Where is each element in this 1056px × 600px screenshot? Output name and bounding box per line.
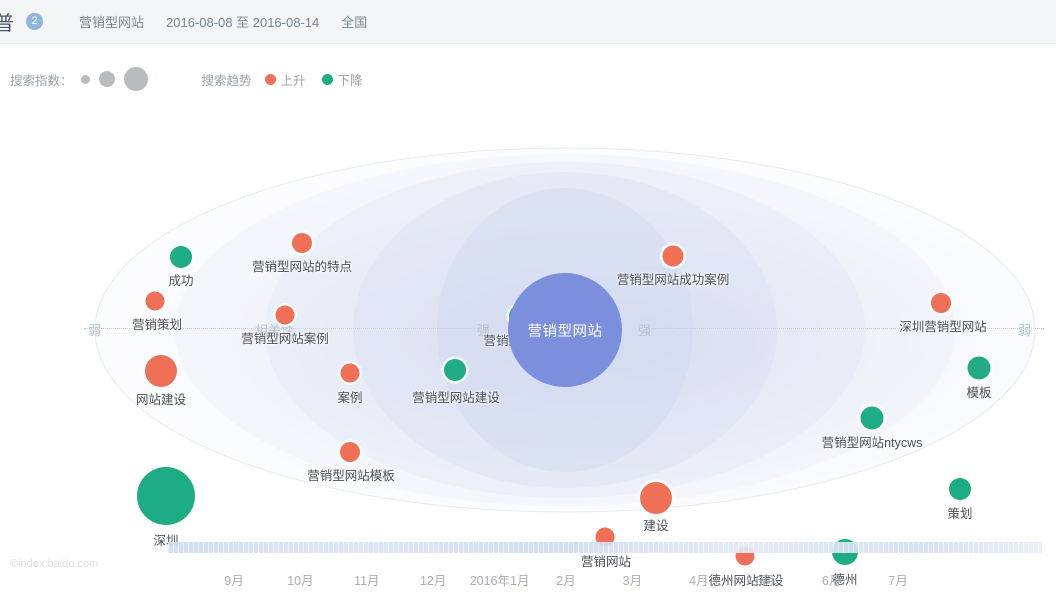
demand-node-bubble[interactable]	[340, 442, 360, 462]
timeline-tick[interactable]: 5月	[755, 570, 774, 589]
axis-label-right-weak: 弱	[1018, 320, 1031, 339]
demand-node-bubble[interactable]	[444, 359, 466, 381]
breadcrumb-date-range[interactable]: 2016-08-08 至 2016-08-14	[166, 12, 319, 31]
trend-down-dot-icon	[322, 74, 333, 85]
demand-node-bubble[interactable]	[861, 407, 884, 430]
legend-size-dot-small	[81, 75, 90, 84]
timeline-tick[interactable]: 2016年1月	[470, 570, 530, 589]
demand-node-bubble[interactable]	[170, 246, 192, 268]
legend-trend-up-label: 上升	[281, 70, 306, 89]
center-keyword-node[interactable]: 营销型网站	[508, 273, 622, 387]
timeline-tick[interactable]: 3月	[623, 570, 642, 589]
legend-search-trend-label: 搜索趋势	[202, 70, 252, 89]
demand-node-bubble[interactable]	[145, 355, 177, 387]
center-keyword-label: 营销型网站	[528, 320, 603, 341]
demand-node-bubble[interactable]	[663, 246, 684, 267]
baidu-index-demand-graph-page: 普 2 营销型网站 2016-08-08 至 2016-08-14 全国 搜索指…	[0, 0, 1056, 600]
page-header: 普 2 营销型网站 2016-08-08 至 2016-08-14 全国	[0, 0, 1056, 44]
notification-badge[interactable]: 2	[26, 13, 43, 30]
demand-node-bubble[interactable]	[968, 357, 991, 380]
timeline-tick[interactable]: 9月	[224, 570, 243, 589]
demand-node-bubble[interactable]	[640, 482, 672, 514]
timeline-tick[interactable]: 10月	[287, 570, 313, 589]
legend-trend-down[interactable]: 下降	[322, 70, 363, 89]
legend-trend-down-label: 下降	[338, 70, 363, 89]
axis-label-right-strong: 强	[638, 320, 651, 339]
demand-node-label[interactable]: 营销型网站成功案例	[617, 269, 730, 288]
timeline-tick[interactable]: 12月	[420, 570, 446, 589]
demand-node-bubble[interactable]	[137, 467, 195, 525]
demand-node-label[interactable]: 营销型网站模板	[307, 465, 395, 484]
timeline-track[interactable]	[168, 542, 1042, 553]
demand-node-label[interactable]: 营销型网站案例	[241, 328, 329, 347]
breadcrumb: 营销型网站 2016-08-08 至 2016-08-14 全国	[79, 12, 367, 31]
axis-label-left-weak: 弱	[88, 320, 101, 339]
trend-up-dot-icon	[265, 74, 276, 85]
demand-node-bubble[interactable]	[931, 293, 951, 313]
legend-search-index-label: 搜索指数：	[10, 70, 73, 89]
demand-node-label[interactable]: 深圳营销型网站	[899, 316, 987, 335]
breadcrumb-keyword[interactable]: 营销型网站	[79, 12, 144, 31]
demand-node-bubble[interactable]	[341, 364, 360, 383]
timeline-tick-labels: 9月10月11月12月2016年1月2月3月4月5月6月7月	[168, 570, 1042, 590]
timeline-tick[interactable]: 2月	[556, 570, 575, 589]
legend-trend-group: 搜索趋势 上升 下降	[202, 70, 372, 89]
demand-node-label[interactable]: 模板	[966, 382, 991, 401]
watermark: ©index.baidu.com	[10, 558, 98, 570]
demand-node-bubble[interactable]	[292, 233, 312, 253]
demand-node-label[interactable]: 成功	[168, 270, 193, 289]
demand-node-label[interactable]: 案例	[337, 387, 362, 406]
legend-trend-up[interactable]: 上升	[265, 70, 306, 89]
legend-size-dot-large	[124, 67, 148, 91]
timeline-scrubber[interactable]: 9月10月11月12月2016年1月2月3月4月5月6月7月	[0, 530, 1056, 600]
demand-node-label[interactable]: 策划	[947, 503, 972, 522]
demand-node-label[interactable]: 网站建设	[136, 389, 186, 408]
breadcrumb-region[interactable]: 全国	[341, 12, 367, 31]
timeline-tick[interactable]: 4月	[689, 570, 708, 589]
demand-node-label[interactable]: 营销策划	[132, 314, 182, 333]
baidu-index-logo[interactable]: 普	[0, 7, 14, 36]
demand-node-bubble[interactable]	[146, 292, 165, 311]
timeline-tick[interactable]: 6月	[822, 570, 841, 589]
demand-node-label[interactable]: 营销型网站ntycws	[822, 432, 923, 451]
demand-graph-canvas[interactable]: 弱 相关性 强 强 弱 成功营销型网站的特点营销策划营销型网站案例营销型网站成功…	[0, 104, 1056, 524]
demand-node-label[interactable]: 营销型网站建设	[412, 387, 500, 406]
timeline-tick[interactable]: 11月	[354, 570, 379, 589]
legend-size-dot-medium	[99, 71, 115, 87]
demand-node-bubble[interactable]	[276, 306, 295, 325]
legend-size-scale	[81, 67, 148, 91]
demand-node-bubble[interactable]	[949, 478, 971, 500]
demand-node-label[interactable]: 营销型网站的特点	[252, 256, 352, 275]
timeline-tick[interactable]: 7月	[888, 570, 907, 589]
chart-legend: 搜索指数： 搜索趋势 上升 下降	[10, 62, 372, 96]
